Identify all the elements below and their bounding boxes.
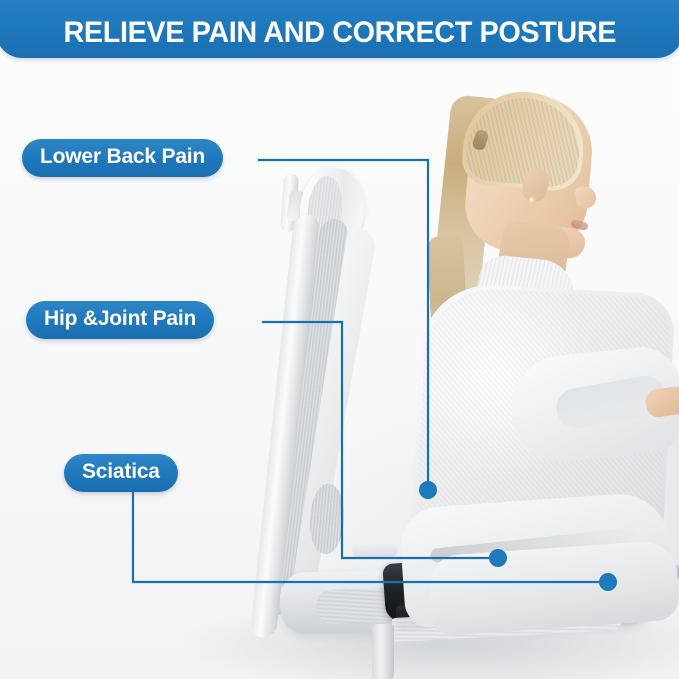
nose xyxy=(575,185,598,210)
header-banner: RELIEVE PAIN AND CORRECT POSTURE xyxy=(0,0,679,58)
callout-sciatica[interactable]: Sciatica xyxy=(64,454,178,492)
product-infographic: RELIEVE PAIN AND CORRECT POSTURE Lower B… xyxy=(0,0,679,679)
thigh xyxy=(428,539,679,636)
chair-gas-lift-post xyxy=(372,624,394,679)
product-photo xyxy=(0,0,679,679)
chair-arm-link xyxy=(352,541,399,559)
callout-hip-joint-pain[interactable]: Hip &Joint Pain xyxy=(26,301,214,339)
callout-lower-back-pain[interactable]: Lower Back Pain xyxy=(22,139,223,177)
banner-title: RELIEVE PAIN AND CORRECT POSTURE xyxy=(63,16,616,50)
earring xyxy=(529,197,536,204)
